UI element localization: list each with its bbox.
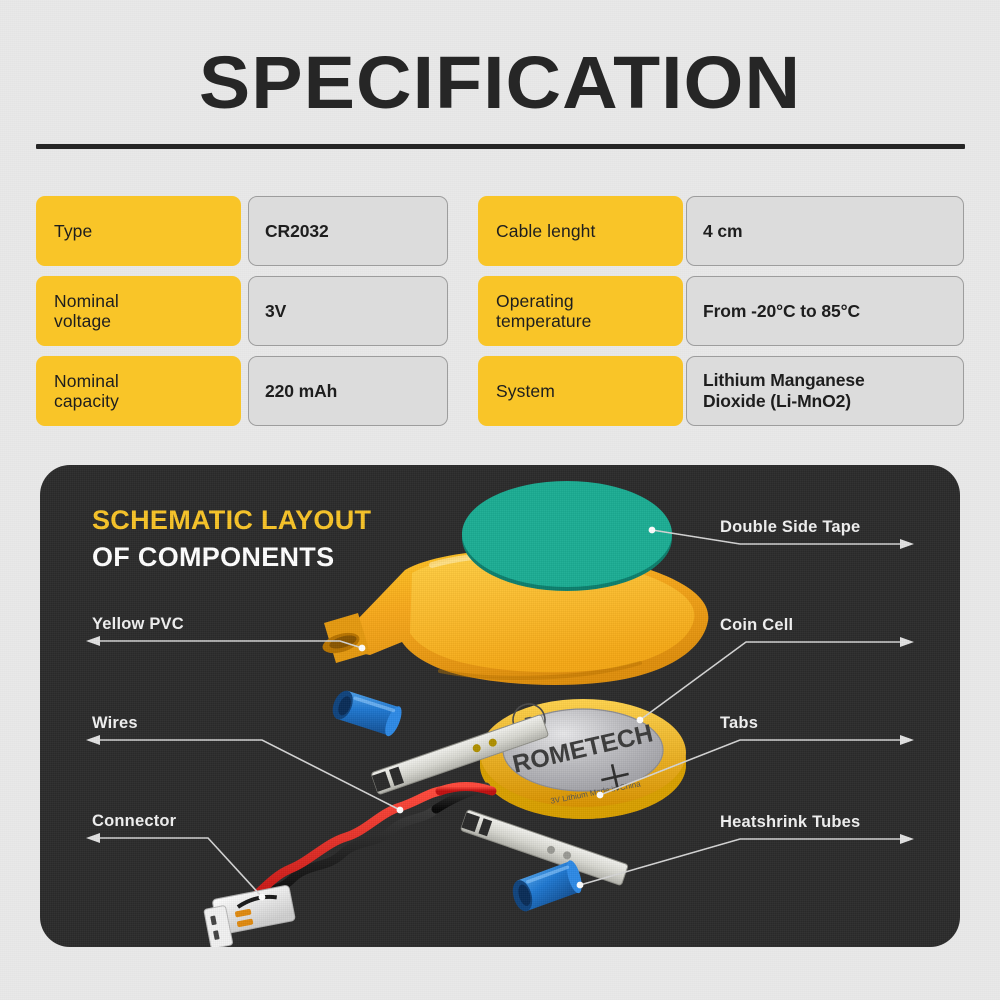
spec-row: Operating temperature From -20°C to 85°C bbox=[478, 276, 920, 346]
spec-key-label-line1: Nominal bbox=[54, 291, 119, 311]
spec-value-nominal-capacity: 220 mAh bbox=[248, 356, 448, 426]
spec-column-left: Type CR2032 Nominal voltage 3V bbox=[36, 196, 478, 436]
spec-key-label-line1: Operating bbox=[496, 291, 591, 311]
schematic-heading-line2: OF COMPONENTS bbox=[92, 542, 371, 573]
spec-key-cable-length: Cable lenght bbox=[478, 196, 683, 266]
spec-row: System Lithium Manganese Dioxide (Li-MnO… bbox=[478, 356, 920, 426]
spec-row: Nominal capacity 220 mAh bbox=[36, 356, 478, 426]
spec-key-operating-temperature: Operating temperature bbox=[478, 276, 683, 346]
spec-value-type: CR2032 bbox=[248, 196, 448, 266]
spec-key-nominal-capacity: Nominal capacity bbox=[36, 356, 241, 426]
callout-label: Wires bbox=[92, 714, 138, 733]
spec-row: Nominal voltage 3V bbox=[36, 276, 478, 346]
callout-label: Coin Cell bbox=[720, 616, 793, 635]
spec-column-right: Cable lenght 4 cm Operating temperature … bbox=[478, 196, 920, 436]
schematic-panel: SCHEMATIC LAYOUT OF COMPONENTS bbox=[40, 465, 960, 947]
spec-value-label-line1: Lithium Manganese bbox=[703, 370, 865, 391]
spec-key-label-line2: temperature bbox=[496, 311, 591, 331]
specification-page: SPECIFICATION Type CR2032 Nominal voltag… bbox=[0, 0, 1000, 1000]
schematic-heading: SCHEMATIC LAYOUT OF COMPONENTS bbox=[92, 505, 371, 573]
spec-row: Cable lenght 4 cm bbox=[478, 196, 920, 266]
callout-label: Heatshrink Tubes bbox=[720, 813, 860, 832]
spec-value-label-line2: Dioxide (Li-MnO2) bbox=[703, 391, 865, 412]
callout-label: Tabs bbox=[720, 714, 758, 733]
callout-label: Yellow PVC bbox=[92, 615, 184, 634]
spec-value-system: Lithium Manganese Dioxide (Li-MnO2) bbox=[686, 356, 964, 426]
spec-key-label-line1: Nominal bbox=[54, 371, 119, 391]
spec-value-label: From -20°C to 85°C bbox=[703, 301, 860, 322]
spec-key-label: Type bbox=[54, 221, 92, 241]
spec-value-cable-length: 4 cm bbox=[686, 196, 964, 266]
schematic-heading-line1: SCHEMATIC LAYOUT bbox=[92, 505, 371, 536]
spec-value-label: CR2032 bbox=[265, 221, 329, 242]
spec-value-label: 220 mAh bbox=[265, 381, 337, 402]
page-title: SPECIFICATION bbox=[0, 46, 1000, 120]
spec-key-label-line2: voltage bbox=[54, 311, 119, 331]
spec-key-label-line2: capacity bbox=[54, 391, 119, 411]
spec-row: Type CR2032 bbox=[36, 196, 478, 266]
spec-key-system: System bbox=[478, 356, 683, 426]
spec-key-nominal-voltage: Nominal voltage bbox=[36, 276, 241, 346]
title-divider bbox=[36, 144, 965, 149]
spec-value-operating-temperature: From -20°C to 85°C bbox=[686, 276, 964, 346]
callout-label: Connector bbox=[92, 812, 176, 831]
callout-label: Double Side Tape bbox=[720, 518, 860, 537]
spec-key-label: Cable lenght bbox=[496, 221, 595, 241]
spec-value-nominal-voltage: 3V bbox=[248, 276, 448, 346]
spec-value-label: 4 cm bbox=[703, 221, 743, 242]
spec-key-type: Type bbox=[36, 196, 241, 266]
spec-value-label: 3V bbox=[265, 301, 286, 322]
spec-key-label: System bbox=[496, 381, 555, 401]
